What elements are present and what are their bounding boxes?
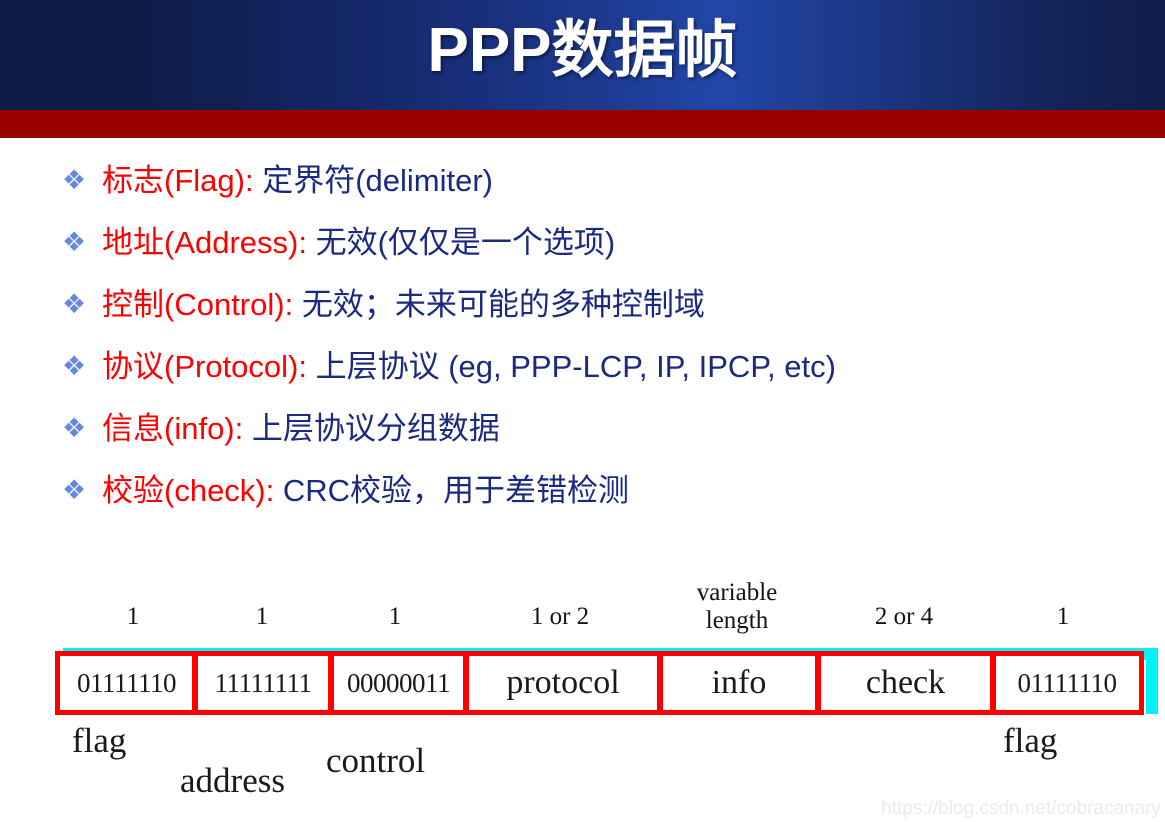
ppp-frame-diagram: 1 1 1 1 or 2 variable length 2 or 4 1 01… (0, 575, 1165, 822)
bullet-desc: 上层协议分组数据 (243, 411, 500, 446)
size-label-flag-end: 1 (1008, 603, 1118, 631)
frame-cell-control: 00000011 (330, 653, 467, 713)
diamond-bullet-icon: ❖ (62, 353, 86, 380)
size-label-check: 2 or 4 (849, 603, 959, 631)
diamond-bullet-icon: ❖ (62, 167, 86, 194)
field-name-control: control (326, 741, 425, 781)
bullet-term: 信息(info): (102, 411, 243, 446)
bullet-term: 校验(check): (102, 473, 274, 508)
size-label-info: variable length (682, 579, 792, 635)
bullet-text: 信息(info): 上层协议分组数据 (102, 398, 500, 460)
bullet-text: 标志(Flag): 定界符(delimiter) (102, 150, 493, 212)
bullet-text: 协议(Protocol): 上层协议 (eg, PPP-LCP, IP, IPC… (102, 336, 836, 398)
bullet-text: 校验(check): CRC校验，用于差错检测 (102, 460, 629, 522)
bullet-list: ❖ 标志(Flag): 定界符(delimiter) ❖ 地址(Address)… (0, 150, 1165, 522)
diamond-bullet-icon: ❖ (62, 415, 86, 442)
diamond-bullet-icon: ❖ (62, 477, 86, 504)
field-name-flag-end: flag (1003, 721, 1057, 761)
bullet-desc: 定界符(delimiter) (254, 163, 493, 198)
frame-size-label-row: 1 1 1 1 or 2 variable length 2 or 4 1 (0, 575, 1165, 643)
bullet-item-flag: ❖ 标志(Flag): 定界符(delimiter) (0, 150, 1165, 212)
bullet-desc: 上层协议 (eg, PPP-LCP, IP, IPCP, etc) (307, 349, 836, 384)
bullet-item-control: ❖ 控制(Control): 无效；未来可能的多种控制域 (0, 274, 1165, 336)
frame-cell-row: 01111110 11111111 00000011 protocol info… (0, 653, 1165, 715)
size-label-info-line1: variable (697, 579, 778, 606)
frame-cell-flag: 01111110 (57, 653, 196, 713)
bullet-item-address: ❖ 地址(Address): 无效(仅仅是一个选项) (0, 212, 1165, 274)
bullet-term: 控制(Control): (102, 287, 293, 322)
bullet-item-check: ❖ 校验(check): CRC校验，用于差错检测 (0, 460, 1165, 522)
header-divider-rule (0, 110, 1165, 138)
bullet-desc: CRC校验，用于差错检测 (274, 473, 629, 508)
size-label-address: 1 (207, 603, 317, 631)
bullet-text: 地址(Address): 无效(仅仅是一个选项) (102, 212, 615, 274)
frame-cell-address: 11111111 (194, 653, 332, 713)
field-name-flag: flag (72, 721, 126, 761)
bullet-term: 协议(Protocol): (102, 349, 307, 384)
bullet-desc: 无效(仅仅是一个选项) (307, 225, 615, 260)
size-label-protocol: 1 or 2 (505, 603, 615, 631)
frame-cell-check: check (817, 653, 994, 713)
bullet-term: 标志(Flag): (102, 163, 254, 198)
frame-cell-info: info (659, 653, 819, 713)
diamond-bullet-icon: ❖ (62, 291, 86, 318)
bullet-item-info: ❖ 信息(info): 上层协议分组数据 (0, 398, 1165, 460)
bullet-text: 控制(Control): 无效；未来可能的多种控制域 (102, 274, 705, 336)
page-title: PPP数据帧 (0, 6, 1165, 96)
bullet-desc: 无效；未来可能的多种控制域 (293, 287, 705, 322)
field-name-address: address (180, 761, 285, 801)
size-label-control: 1 (340, 603, 450, 631)
size-label-flag: 1 (78, 603, 188, 631)
frame-cell-flag-end: 01111110 (992, 653, 1142, 713)
frame-field-name-row: flag address control flag (0, 715, 1165, 805)
bullet-term: 地址(Address): (102, 225, 307, 260)
bullet-item-protocol: ❖ 协议(Protocol): 上层协议 (eg, PPP-LCP, IP, I… (0, 336, 1165, 398)
size-label-info-line2: length (706, 607, 769, 634)
diamond-bullet-icon: ❖ (62, 229, 86, 256)
frame-cell-protocol: protocol (465, 653, 661, 713)
source-watermark: https://blog.csdn.net/cobracanary (881, 798, 1161, 820)
